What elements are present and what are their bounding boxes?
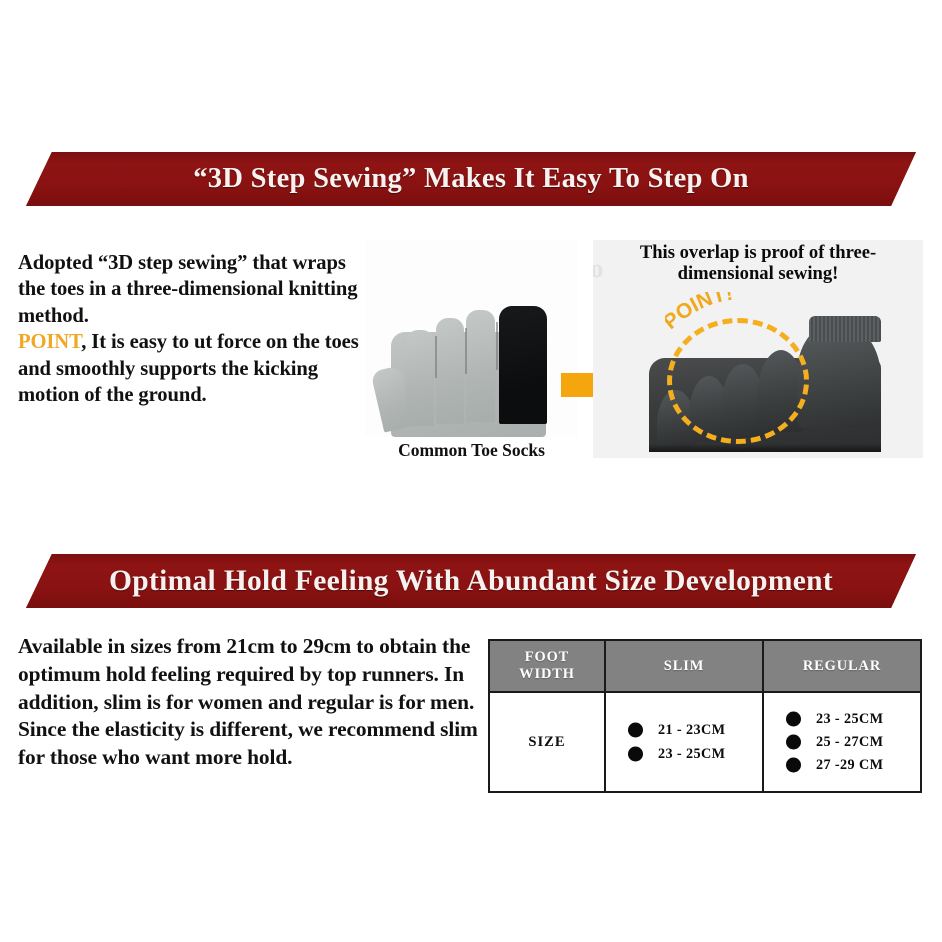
dark-sock-cuff [809, 316, 881, 342]
cell-slim-sizes: 21 - 23CM 23 - 25CM [605, 692, 763, 792]
section-2-body-text: Available in sizes from 21cm to 29cm to … [18, 633, 480, 772]
size-chart-header: FOOT WIDTH SLIM REGULAR [489, 640, 921, 692]
point-arc-text: POINT! [665, 292, 734, 334]
header-foot-width-line1: FOOT [525, 649, 569, 665]
table-row: SIZE 21 - 23CM 23 - 25CM 23 - 25CM 25 - … [489, 692, 921, 792]
sock-toe-second [466, 310, 495, 422]
dark-sock-shadow [649, 444, 881, 452]
sock-seam-line-1 [435, 336, 437, 378]
list-item: 23 - 25CM [628, 747, 762, 761]
list-item: 25 - 27CM [786, 735, 920, 749]
header-foot-width: FOOT WIDTH [489, 640, 605, 692]
list-item: 23 - 25CM [786, 712, 920, 726]
header-foot-width-line2: WIDTH [519, 666, 575, 682]
svg-text:POINT!: POINT! [665, 292, 734, 334]
sock-seam-line-3 [496, 322, 498, 370]
common-toe-socks-photo [365, 240, 578, 437]
three-dimensional-sewing-photo: Lo This overlap is proof of three-dimens… [593, 240, 923, 458]
size-chart-table: FOOT WIDTH SLIM REGULAR SIZE 21 - 23CM 2… [488, 639, 922, 793]
point-exclamation-label: POINT! [665, 292, 785, 336]
section-1-body-text: Adopted “3D step sewing” that wraps the … [18, 250, 366, 409]
section-1-banner-title: “3D Step Sewing” Makes It Easy To Step O… [193, 163, 748, 195]
common-toe-socks-caption: Common Toe Socks [365, 440, 578, 461]
regular-size-list: 23 - 25CM 25 - 27CM 27 -29 CM [764, 712, 920, 773]
section-1-paragraph-1: Adopted “3D step sewing” that wraps the … [18, 252, 357, 327]
sock-toe-middle [436, 318, 464, 424]
sock-toe-fourth [406, 330, 434, 426]
point-highlight-label: POINT [18, 331, 81, 353]
infographic-page: “3D Step Sewing” Makes It Easy To Step O… [0, 0, 942, 942]
header-slim: SLIM [605, 640, 763, 692]
table-header-row: FOOT WIDTH SLIM REGULAR [489, 640, 921, 692]
slim-size-list: 21 - 23CM 23 - 25CM [606, 723, 762, 760]
sock-toe-big-black [499, 306, 547, 424]
three-dimensional-sewing-caption: This overlap is proof of three-dimension… [593, 242, 923, 284]
cell-regular-sizes: 23 - 25CM 25 - 27CM 27 -29 CM [763, 692, 921, 792]
size-chart-body: SIZE 21 - 23CM 23 - 25CM 23 - 25CM 25 - … [489, 692, 921, 792]
overlap-highlight-ellipse-icon [667, 318, 809, 444]
header-regular: REGULAR [763, 640, 921, 692]
list-item: 27 -29 CM [786, 758, 920, 772]
section-2-banner-title: Optimal Hold Feeling With Abundant Size … [109, 565, 833, 598]
section-1-banner: “3D Step Sewing” Makes It Easy To Step O… [26, 152, 916, 206]
section-2-banner: Optimal Hold Feeling With Abundant Size … [26, 554, 916, 608]
cell-size-label: SIZE [489, 692, 605, 792]
sock-seam-line-2 [465, 328, 467, 374]
list-item: 21 - 23CM [628, 723, 762, 737]
